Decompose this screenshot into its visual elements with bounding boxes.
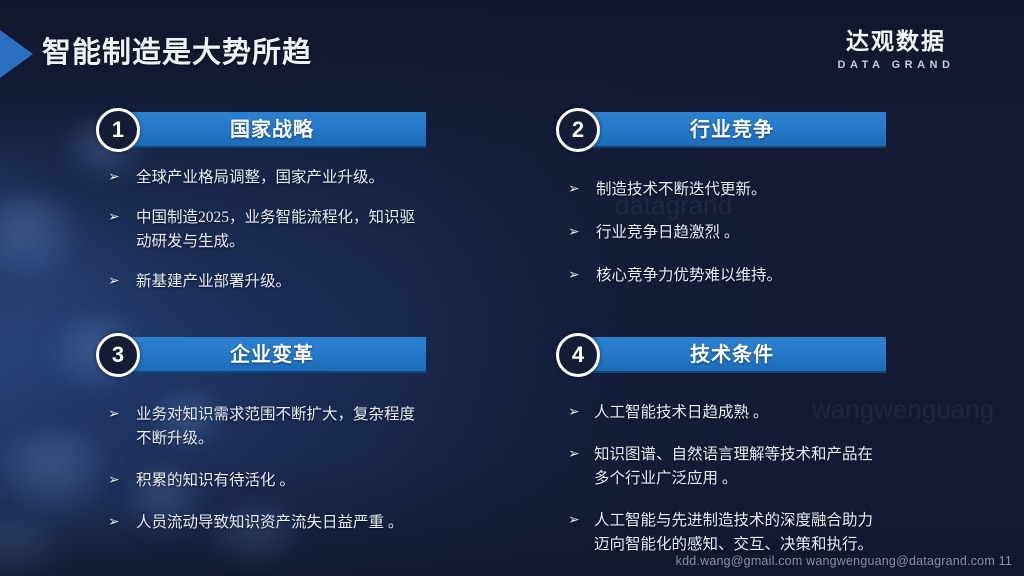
list-item: ➢ 人工智能与先进制造技术的深度融合助力迈向智能化的感知、交互、决策和执行。 bbox=[564, 509, 886, 557]
list-item-text: 积累的知识有待活化 。 bbox=[136, 472, 295, 489]
footer-contact: kdd.wang@gmail.com wangwenguang@datagran… bbox=[676, 554, 1012, 568]
list-item: ➢ 人员流动导致知识资产流失日益严重 。 bbox=[104, 511, 426, 535]
brand-logo-cn: 达观数据 bbox=[806, 27, 986, 55]
list-item: ➢ 积累的知识有待活化 。 bbox=[104, 469, 426, 493]
triangle-right-icon bbox=[0, 30, 33, 78]
list-item: ➢ 中国制造2025，业务智能流程化，知识驱动研发与生成。 bbox=[104, 206, 426, 254]
card-bullet-list: ➢ 业务对知识需求范围不断扩大，复杂程度不断升级。 ➢ 积累的知识有待活化 。 … bbox=[96, 403, 426, 535]
list-item: ➢ 业务对知识需求范围不断扩大，复杂程度不断升级。 bbox=[104, 403, 426, 451]
arrow-bullet-icon: ➢ bbox=[108, 166, 120, 190]
card-header: 技术条件 4 bbox=[556, 337, 886, 373]
arrow-bullet-icon: ➢ bbox=[568, 509, 580, 533]
arrow-bullet-icon: ➢ bbox=[108, 511, 120, 535]
card-bullet-list: ➢ 全球产业格局调整，国家产业升级。 ➢ 中国制造2025，业务智能流程化，知识… bbox=[96, 166, 426, 294]
card-title: 技术条件 bbox=[578, 337, 886, 373]
list-item-text: 业务对知识需求范围不断扩大，复杂程度不断升级。 bbox=[136, 406, 415, 447]
list-item-text: 制造技术不断迭代更新。 bbox=[596, 181, 767, 198]
card-number-badge: 4 bbox=[556, 333, 600, 377]
list-item-text: 新基建产业部署升级。 bbox=[136, 273, 291, 290]
list-item-text: 人工智能技术日趋成熟 。 bbox=[594, 404, 768, 421]
card-bullet-list: ➢ 人工智能技术日趋成熟 。 ➢ 知识图谱、自然语言理解等技术和产品在多个行业广… bbox=[556, 401, 886, 557]
list-item: ➢ 全球产业格局调整，国家产业升级。 bbox=[104, 166, 426, 190]
card-header: 企业变革 3 bbox=[96, 337, 426, 373]
list-item-text: 知识图谱、自然语言理解等技术和产品在多个行业广泛应用 。 bbox=[594, 446, 873, 487]
slide: datagrand wangwenguang 智能制造是大势所趋 达观数据 DA… bbox=[0, 0, 1024, 576]
card-bullet-list: ➢ 制造技术不断迭代更新。 ➢ 行业竞争日趋激烈 。 ➢ 核心竞争力优势难以维持… bbox=[556, 178, 886, 288]
list-item-text: 人工智能与先进制造技术的深度融合助力迈向智能化的感知、交互、决策和执行。 bbox=[594, 512, 873, 553]
list-item-text: 中国制造2025，业务智能流程化，知识驱动研发与生成。 bbox=[136, 209, 415, 250]
card-enterprise-transformation: 企业变革 3 ➢ 业务对知识需求范围不断扩大，复杂程度不断升级。 ➢ 积累的知识… bbox=[96, 337, 426, 553]
list-item-text: 全球产业格局调整，国家产业升级。 bbox=[136, 169, 384, 186]
list-item: ➢ 行业竞争日趋激烈 。 bbox=[564, 221, 886, 245]
card-number-badge: 3 bbox=[96, 333, 140, 377]
brand-logo: 达观数据 DATA GRAND bbox=[806, 27, 986, 72]
card-number-badge: 1 bbox=[96, 108, 140, 152]
arrow-bullet-icon: ➢ bbox=[108, 206, 120, 230]
arrow-bullet-icon: ➢ bbox=[568, 178, 580, 202]
brand-logo-en: DATA GRAND bbox=[806, 59, 986, 72]
card-header: 国家战略 1 bbox=[96, 112, 426, 148]
card-technology-conditions: 技术条件 4 ➢ 人工智能技术日趋成熟 。 ➢ 知识图谱、自然语言理解等技术和产… bbox=[556, 337, 886, 575]
card-industry-competition: 行业竞争 2 ➢ 制造技术不断迭代更新。 ➢ 行业竞争日趋激烈 。 ➢ 核心竞争… bbox=[556, 112, 886, 307]
card-national-strategy: 国家战略 1 ➢ 全球产业格局调整，国家产业升级。 ➢ 中国制造2025，业务智… bbox=[96, 112, 426, 310]
arrow-bullet-icon: ➢ bbox=[108, 469, 120, 493]
page-title: 智能制造是大势所趋 bbox=[42, 30, 312, 76]
list-item-text: 行业竞争日趋激烈 。 bbox=[596, 224, 739, 241]
list-item: ➢ 新基建产业部署升级。 bbox=[104, 270, 426, 294]
arrow-bullet-icon: ➢ bbox=[568, 264, 580, 288]
arrow-bullet-icon: ➢ bbox=[108, 403, 120, 427]
card-title: 国家战略 bbox=[118, 112, 426, 148]
list-item-text: 人员流动导致知识资产流失日益严重 。 bbox=[136, 514, 403, 531]
arrow-bullet-icon: ➢ bbox=[568, 443, 580, 467]
arrow-bullet-icon: ➢ bbox=[568, 401, 580, 425]
card-header: 行业竞争 2 bbox=[556, 112, 886, 148]
card-title: 企业变革 bbox=[118, 337, 426, 373]
list-item: ➢ 制造技术不断迭代更新。 bbox=[564, 178, 886, 202]
arrow-bullet-icon: ➢ bbox=[568, 221, 580, 245]
list-item-text: 核心竞争力优势难以维持。 bbox=[596, 267, 782, 284]
list-item: ➢ 核心竞争力优势难以维持。 bbox=[564, 264, 886, 288]
list-item: ➢ 知识图谱、自然语言理解等技术和产品在多个行业广泛应用 。 bbox=[564, 443, 886, 491]
arrow-bullet-icon: ➢ bbox=[108, 270, 120, 294]
card-title: 行业竞争 bbox=[578, 112, 886, 148]
list-item: ➢ 人工智能技术日趋成熟 。 bbox=[564, 401, 886, 425]
card-number-badge: 2 bbox=[556, 108, 600, 152]
